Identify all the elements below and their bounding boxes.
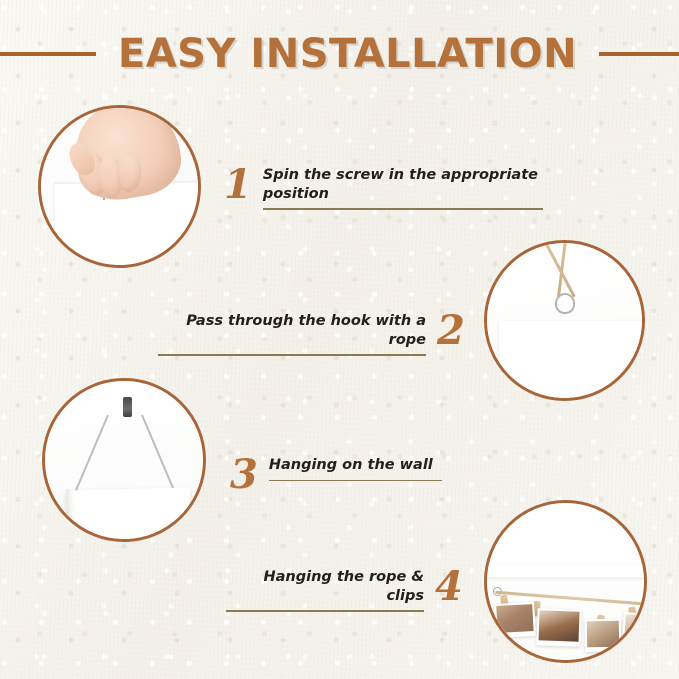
step-4-text: Hanging the rope & clips	[226, 568, 424, 605]
step-1: 1 Spin the screw in the appropriate posi…	[224, 166, 514, 210]
step-3-number: 3	[230, 456, 258, 494]
step-1-body: Spin the screw in the appropriate positi…	[263, 166, 543, 210]
step-4-body: Hanging the rope & clips	[226, 568, 424, 612]
step-1-number: 1	[224, 166, 252, 204]
step-2-photo	[484, 240, 645, 401]
header-rule-left	[0, 52, 96, 56]
hanging-photo	[622, 612, 644, 646]
header: EASY INSTALLATION	[0, 26, 679, 82]
picture-frame	[66, 487, 192, 539]
linen-mat	[539, 355, 642, 398]
hanging-photo	[585, 619, 622, 653]
hand-screw-scene	[41, 108, 198, 265]
step-2-number: 2	[437, 312, 465, 350]
page-title: EASY INSTALLATION	[118, 34, 577, 74]
step-2-text: Pass through the hook with a rope	[158, 312, 426, 349]
hanging-photo	[536, 608, 581, 647]
step-2-body: Pass through the hook with a rope	[158, 312, 426, 356]
hanging-photo	[494, 602, 536, 638]
linen-mat	[80, 504, 184, 539]
rope-clips-scene	[487, 503, 644, 660]
step-1-photo	[38, 105, 201, 268]
step-4-underline	[226, 610, 424, 612]
linen-mat	[487, 507, 644, 565]
step-2: Pass through the hook with a rope 2	[158, 312, 458, 356]
step-4: Hanging the rope & clips 4	[226, 568, 456, 612]
step-3-photo	[42, 378, 206, 542]
step-3: 3 Hanging on the wall	[230, 456, 440, 494]
wall-hanging-scene	[45, 381, 203, 539]
metal-ring-icon	[555, 293, 575, 314]
wall-nail-icon	[123, 397, 132, 417]
step-2-underline	[158, 354, 426, 356]
step-4-number: 4	[435, 568, 463, 606]
picture-frame	[499, 321, 642, 398]
step-1-text: Spin the screw in the appropriate positi…	[263, 166, 543, 203]
linen-mat	[85, 210, 198, 265]
step-1-underline	[263, 208, 543, 210]
step-4-photo	[484, 500, 647, 663]
frame-bottom-edge	[487, 565, 644, 577]
header-rule-right	[599, 52, 679, 56]
rope-ring-scene	[487, 243, 642, 398]
step-3-body: Hanging on the wall	[269, 456, 442, 481]
step-3-underline	[269, 480, 442, 482]
step-3-text: Hanging on the wall	[269, 456, 442, 475]
infographic-page: EASY INSTALLATION 1 Spin the screw in th…	[0, 0, 679, 679]
